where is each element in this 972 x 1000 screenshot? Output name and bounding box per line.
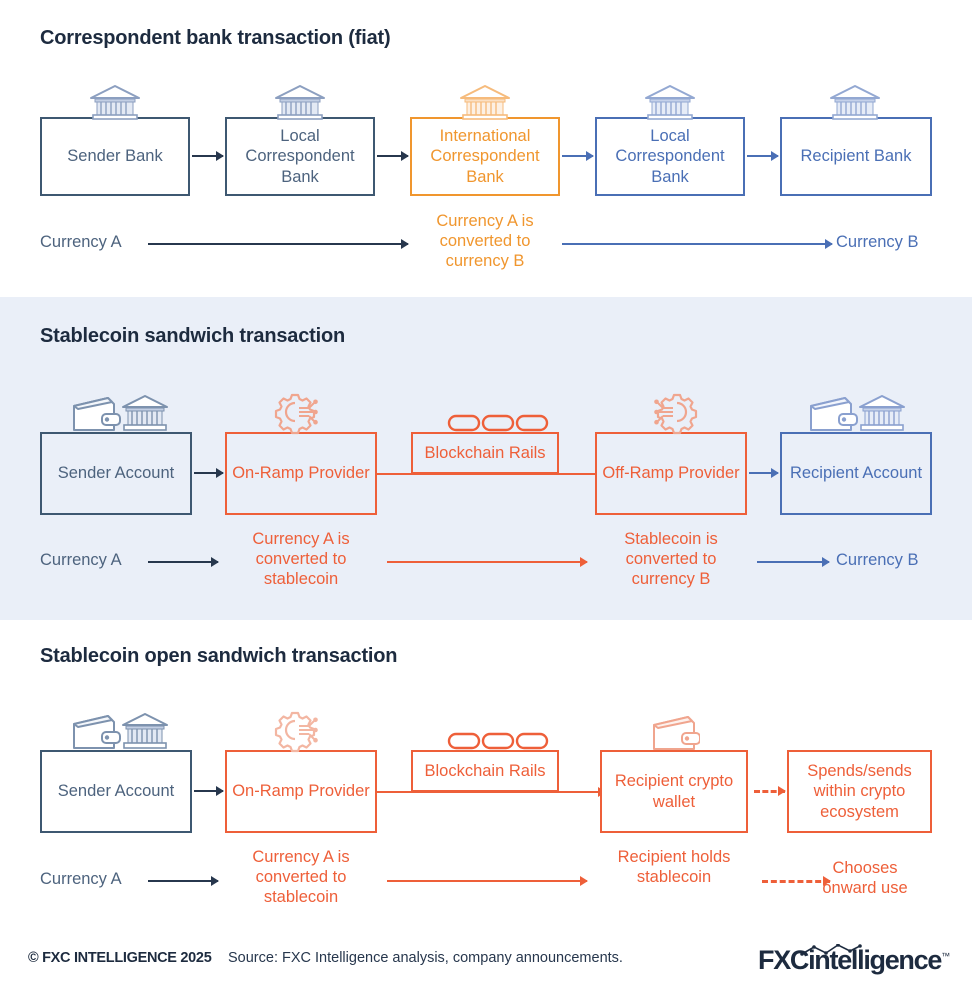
node-sender-account[interactable]: Sender Account bbox=[40, 432, 192, 515]
gear-circuit-icon bbox=[273, 706, 325, 759]
flow-arrow bbox=[562, 155, 593, 157]
section-2-title: Stablecoin sandwich transaction bbox=[40, 325, 345, 348]
annotation-conversion-a-to-b: Currency A is converted to currency B bbox=[410, 211, 560, 271]
annotation-currency-a: Currency A bbox=[40, 869, 122, 889]
node-local-correspondent-bank-1[interactable]: Local Correspondent Bank bbox=[225, 117, 375, 196]
flow-arrow-dashed bbox=[754, 790, 785, 792]
bank-icon bbox=[87, 84, 143, 125]
flow-arrow bbox=[192, 155, 223, 157]
bank-icon bbox=[272, 84, 328, 125]
node-sender-account[interactable]: Sender Account bbox=[40, 750, 192, 833]
section-3-title: Stablecoin open sandwich transaction bbox=[40, 645, 397, 668]
node-recipient-crypto-wallet[interactable]: Recipient crypto wallet bbox=[600, 750, 748, 833]
annotation-conversion-to-stablecoin: Currency A is converted to stablecoin bbox=[225, 529, 377, 589]
annotation-arrow bbox=[387, 880, 587, 882]
annotation-stablecoin-to-currency-b: Stablecoin is converted to currency B bbox=[595, 529, 747, 589]
annotation-arrow-dashed bbox=[762, 880, 830, 882]
node-recipient-bank[interactable]: Recipient Bank bbox=[780, 117, 932, 196]
wallet-bank-icon bbox=[68, 390, 173, 440]
gear-circuit-flipped-icon bbox=[647, 388, 699, 441]
flow-arrow bbox=[749, 472, 778, 474]
annotation-arrow bbox=[757, 561, 829, 563]
node-on-ramp-provider[interactable]: On-Ramp Provider bbox=[225, 432, 377, 515]
bank-icon bbox=[642, 84, 698, 125]
footer-source: Source: FXC Intelligence analysis, compa… bbox=[228, 950, 623, 966]
section-1-title: Correspondent bank transaction (fiat) bbox=[40, 27, 390, 50]
infographic-canvas: Correspondent bank transaction (fiat) bbox=[0, 0, 972, 1000]
node-on-ramp-provider[interactable]: On-Ramp Provider bbox=[225, 750, 377, 833]
wallet-bank-icon bbox=[805, 390, 910, 440]
wallet-bank-icon bbox=[68, 708, 173, 758]
bank-icon bbox=[457, 84, 513, 125]
fxc-intelligence-logo: FXCintelligence™ bbox=[758, 945, 950, 976]
annotation-currency-a: Currency A bbox=[40, 550, 122, 570]
node-international-correspondent-bank[interactable]: International Correspondent Bank bbox=[410, 117, 560, 196]
annotation-arrow bbox=[148, 243, 408, 245]
annotation-recipient-holds-stablecoin: Recipient holds stablecoin bbox=[598, 847, 750, 887]
annotation-arrow bbox=[387, 561, 587, 563]
annotation-arrow bbox=[562, 243, 832, 245]
wallet-icon bbox=[648, 708, 700, 759]
annotation-conversion-to-stablecoin: Currency A is converted to stablecoin bbox=[225, 847, 377, 907]
annotation-chooses-onward-use: Chooses onward use bbox=[795, 858, 935, 898]
bank-icon bbox=[827, 84, 883, 125]
node-off-ramp-provider[interactable]: Off-Ramp Provider bbox=[595, 432, 747, 515]
flow-arrow bbox=[194, 790, 223, 792]
footer-copyright: © FXC INTELLIGENCE 2025 bbox=[28, 950, 211, 966]
annotation-arrow bbox=[148, 561, 218, 563]
chain-links-icon bbox=[446, 411, 550, 440]
chain-links-icon bbox=[446, 729, 550, 758]
node-local-correspondent-bank-2[interactable]: Local Correspondent Bank bbox=[595, 117, 745, 196]
node-sender-bank[interactable]: Sender Bank bbox=[40, 117, 190, 196]
annotation-currency-a: Currency A bbox=[40, 232, 122, 252]
flow-arrow bbox=[747, 155, 778, 157]
annotation-currency-b: Currency B bbox=[836, 550, 919, 570]
node-recipient-account[interactable]: Recipient Account bbox=[780, 432, 932, 515]
annotation-currency-b: Currency B bbox=[836, 232, 919, 252]
annotation-arrow bbox=[148, 880, 218, 882]
logo-trademark: ™ bbox=[941, 951, 950, 961]
node-spends-within-crypto-ecosystem[interactable]: Spends/sends within crypto ecosystem bbox=[787, 750, 932, 833]
gear-circuit-icon bbox=[273, 388, 325, 441]
flow-arrow bbox=[377, 155, 408, 157]
flow-arrow bbox=[194, 472, 223, 474]
